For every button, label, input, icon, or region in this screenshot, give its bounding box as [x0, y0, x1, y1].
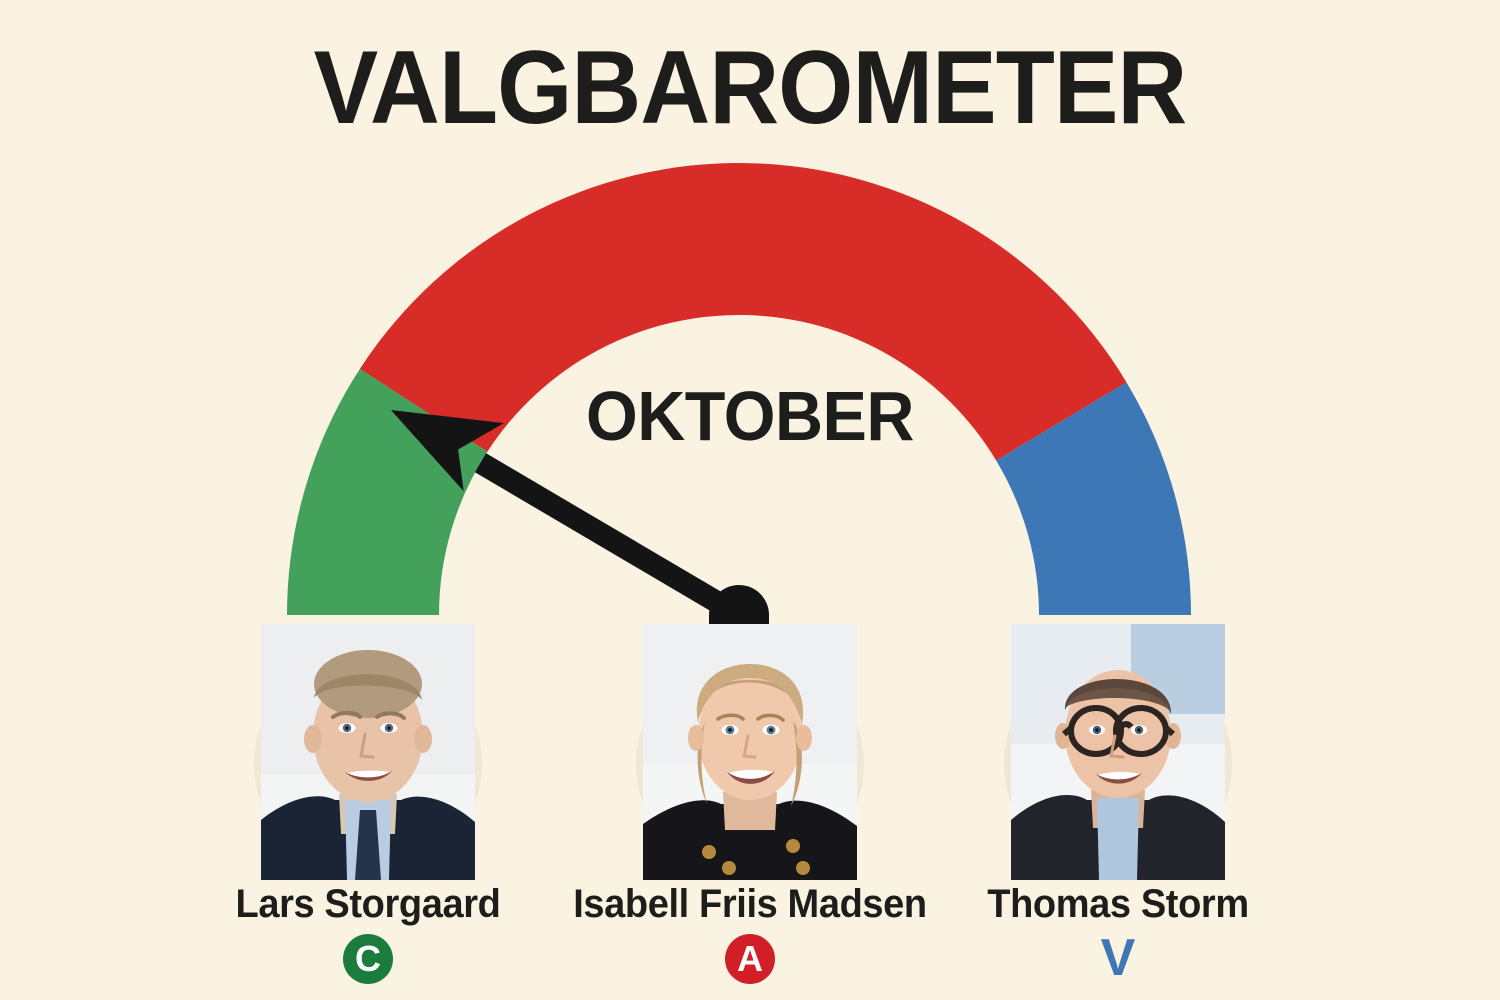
candidate-photo-1 — [643, 624, 857, 880]
party-badge-1: A — [725, 934, 775, 984]
candidate-card-0[interactable]: Lars Storgaard C — [198, 612, 538, 1000]
infographic-canvas: VALGBAROMETER OKTOBER — [0, 0, 1500, 1000]
gauge-month-label: OKTOBER — [38, 381, 1463, 451]
party-badge-2: V — [1093, 934, 1143, 984]
candidate-photo-0 — [261, 624, 475, 880]
candidate-name-0: Lars Storgaard — [188, 884, 549, 924]
party-badge-0: C — [343, 934, 393, 984]
needle-shaft — [475, 453, 745, 624]
candidate-photo-2 — [1011, 624, 1225, 880]
candidate-card-1[interactable]: Isabell Friis Madsen A — [580, 612, 920, 1000]
candidate-list: Lars Storgaard C — [0, 612, 1500, 1000]
candidate-card-2[interactable]: Thomas Storm V — [948, 612, 1288, 1000]
candidate-name-2: Thomas Storm — [938, 884, 1299, 924]
candidate-name-1: Isabell Friis Madsen — [570, 884, 931, 924]
portrait-illustration — [643, 624, 857, 880]
portrait-illustration — [1011, 624, 1225, 880]
portrait-illustration — [261, 624, 475, 880]
